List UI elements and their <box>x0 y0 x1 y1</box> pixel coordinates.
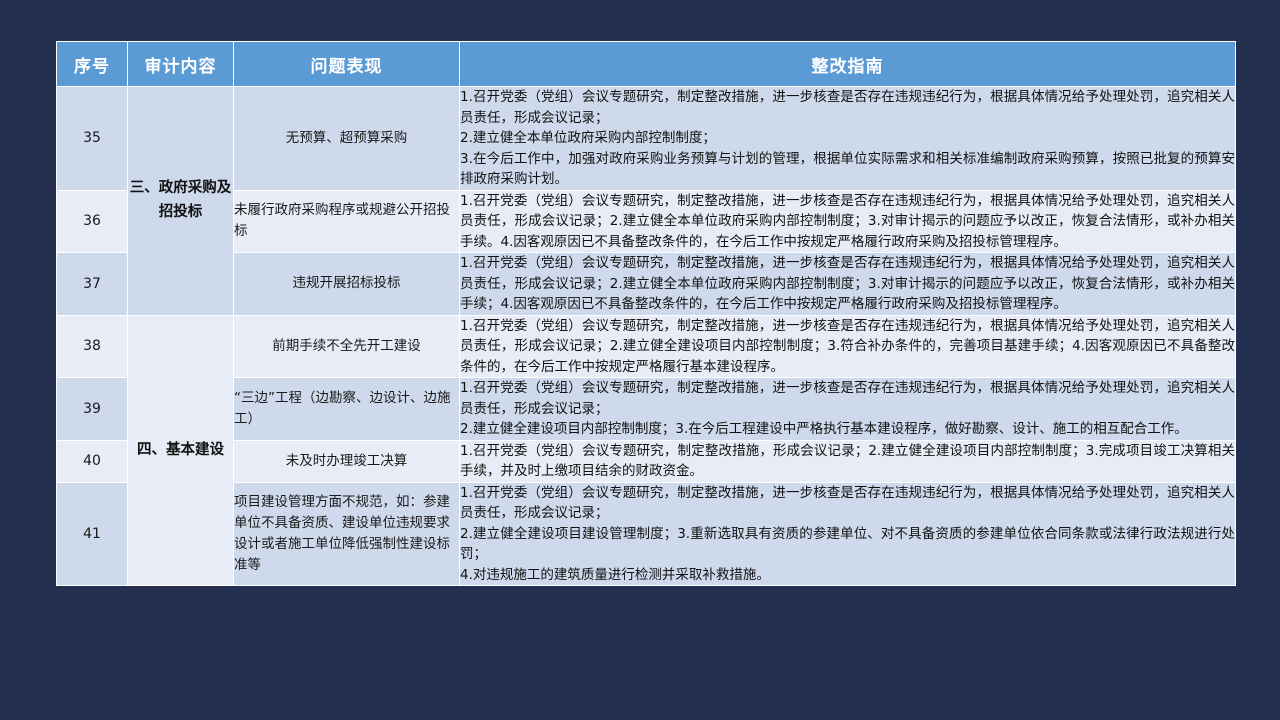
slide-canvas: 序号 审计内容 问题表现 整改指南 35三、政府采购及招投标无预算、超预算采购1… <box>0 0 1280 720</box>
cell-problem-description: 未履行政府采购程序或规避公开招投标 <box>234 191 459 253</box>
cell-sequence-number: 39 <box>57 378 127 440</box>
guide-line: 3.在今后工作中，加强对政府采购业务预算与计划的管理，根据单位实际需求和相关标准… <box>460 149 1235 190</box>
cell-sequence-number: 38 <box>57 316 127 378</box>
table-row: 40未及时办理竣工决算1.召开党委（党组）会议专题研究，制定整改措施，形成会议记… <box>57 441 1235 482</box>
guide-line: 1.召开党委（党组）会议专题研究，制定整改措施，进一步核查是否存在违规违纪行为，… <box>460 87 1235 128</box>
table-header-row: 序号 审计内容 问题表现 整改指南 <box>57 42 1235 86</box>
guide-line: 4.对违规施工的建筑质量进行检测并采取补救措施。 <box>460 565 1235 586</box>
guide-line: 2.建立健全建设项目建设管理制度；3.重新选取具有资质的参建单位、对不具备资质的… <box>460 524 1235 565</box>
cell-rectification-guide: 1.召开党委（党组）会议专题研究，制定整改措施，进一步核查是否存在违规违纪行为，… <box>460 483 1235 586</box>
cell-rectification-guide: 1.召开党委（党组）会议专题研究，制定整改措施，进一步核查是否存在违规违纪行为，… <box>460 87 1235 190</box>
guide-line: 1.召开党委（党组）会议专题研究，制定整改措施，进一步核查是否存在违规违纪行为，… <box>460 483 1235 524</box>
cell-problem-description: 前期手续不全先开工建设 <box>234 316 459 378</box>
cell-problem-description: 违规开展招标投标 <box>234 253 459 315</box>
cell-problem-description: 项目建设管理方面不规范，如：参建单位不具备资质、建设单位违规要求设计或者施工单位… <box>234 483 459 586</box>
cell-sequence-number: 35 <box>57 87 127 190</box>
table-row: 35三、政府采购及招投标无预算、超预算采购1.召开党委（党组）会议专题研究，制定… <box>57 87 1235 190</box>
audit-table-container: 序号 审计内容 问题表现 整改指南 35三、政府采购及招投标无预算、超预算采购1… <box>56 41 1231 586</box>
cell-problem-description: 未及时办理竣工决算 <box>234 441 459 482</box>
cell-sequence-number: 36 <box>57 191 127 253</box>
guide-line: 1.召开党委（党组）会议专题研究，制定整改措施，进一步核查是否存在违规违纪行为，… <box>460 316 1235 378</box>
cell-problem-description: 无预算、超预算采购 <box>234 87 459 190</box>
column-header-no: 序号 <box>57 42 127 86</box>
cell-sequence-number: 37 <box>57 253 127 315</box>
table-row: 39“三边”工程（边勘察、边设计、边施工）1.召开党委（党组）会议专题研究，制定… <box>57 378 1235 440</box>
audit-rectification-table: 序号 审计内容 问题表现 整改指南 35三、政府采购及招投标无预算、超预算采购1… <box>56 41 1236 586</box>
table-row: 36未履行政府采购程序或规避公开招投标1.召开党委（党组）会议专题研究，制定整改… <box>57 191 1235 253</box>
guide-line: 1.召开党委（党组）会议专题研究，制定整改措施，形成会议记录；2.建立健全建设项… <box>460 441 1235 482</box>
column-header-audit-content: 审计内容 <box>128 42 233 86</box>
cell-rectification-guide: 1.召开党委（党组）会议专题研究，制定整改措施，形成会议记录；2.建立健全建设项… <box>460 441 1235 482</box>
table-row: 37违规开展招标投标1.召开党委（党组）会议专题研究，制定整改措施，进一步核查是… <box>57 253 1235 315</box>
cell-rectification-guide: 1.召开党委（党组）会议专题研究，制定整改措施，进一步核查是否存在违规违纪行为，… <box>460 378 1235 440</box>
cell-rectification-guide: 1.召开党委（党组）会议专题研究，制定整改措施，进一步核查是否存在违规违纪行为，… <box>460 191 1235 253</box>
cell-sequence-number: 40 <box>57 441 127 482</box>
guide-line: 2.建立健全建设项目内部控制制度；3.在今后工程建设中严格执行基本建设程序，做好… <box>460 419 1235 440</box>
cell-audit-content-group: 三、政府采购及招投标 <box>128 87 233 315</box>
column-header-problem: 问题表现 <box>234 42 459 86</box>
guide-line: 1.召开党委（党组）会议专题研究，制定整改措施，进一步核查是否存在违规违纪行为，… <box>460 378 1235 419</box>
cell-audit-content-group: 四、基本建设 <box>128 316 233 586</box>
column-header-guide: 整改指南 <box>460 42 1235 86</box>
table-row: 41项目建设管理方面不规范，如：参建单位不具备资质、建设单位违规要求设计或者施工… <box>57 483 1235 586</box>
guide-line: 2.建立健全本单位政府采购内部控制制度； <box>460 128 1235 149</box>
cell-sequence-number: 41 <box>57 483 127 586</box>
guide-line: 1.召开党委（党组）会议专题研究，制定整改措施，进一步核查是否存在违规违纪行为，… <box>460 191 1235 253</box>
cell-rectification-guide: 1.召开党委（党组）会议专题研究，制定整改措施，进一步核查是否存在违规违纪行为，… <box>460 316 1235 378</box>
cell-problem-description: “三边”工程（边勘察、边设计、边施工） <box>234 378 459 440</box>
cell-rectification-guide: 1.召开党委（党组）会议专题研究，制定整改措施，进一步核查是否存在违规违纪行为，… <box>460 253 1235 315</box>
guide-line: 1.召开党委（党组）会议专题研究，制定整改措施，进一步核查是否存在违规违纪行为，… <box>460 253 1235 315</box>
table-row: 38四、基本建设前期手续不全先开工建设1.召开党委（党组）会议专题研究，制定整改… <box>57 316 1235 378</box>
table-body: 35三、政府采购及招投标无预算、超预算采购1.召开党委（党组）会议专题研究，制定… <box>57 87 1235 585</box>
